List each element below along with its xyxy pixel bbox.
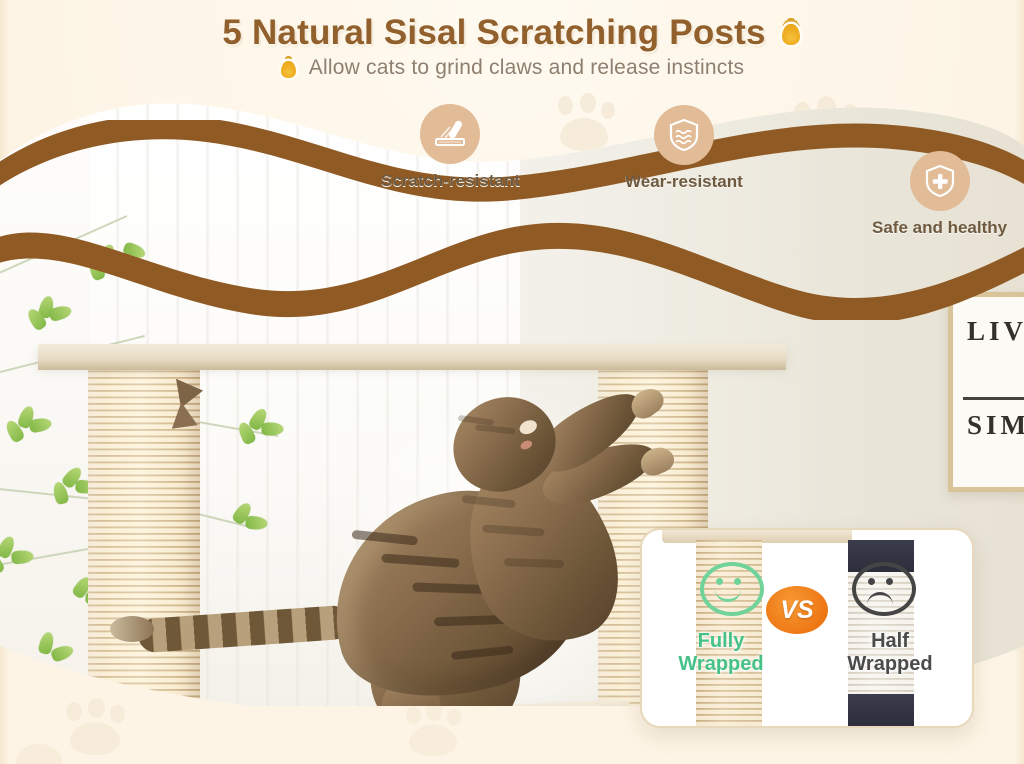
- page-title: 5 Natural Sisal Scratching Posts: [222, 13, 765, 53]
- cat-bell-ornament-icon: [280, 56, 297, 80]
- cat-ear-right: [168, 400, 197, 428]
- cat-tree-top-shelf-edge: [38, 362, 786, 370]
- shield-plus-icon: [910, 151, 970, 211]
- feature-scratch-resistant: Scratch-resistant: [381, 104, 520, 191]
- feature-label: Scratch-resistant: [381, 171, 520, 191]
- smiley-face-icon: [700, 562, 764, 616]
- poster-text-live: LIVE: [967, 311, 1024, 351]
- feature-wear-resistant: Wear-resistant: [625, 105, 743, 192]
- feature-label: Safe and healthy: [872, 218, 1007, 238]
- half-wrapped-label: Half Wrapped: [820, 630, 960, 676]
- header: 5 Natural Sisal Scratching Posts Allow c…: [0, 0, 1024, 104]
- comparison-card: Fully Wrapped VS Half Wrapped: [640, 528, 974, 728]
- cat-bell-ornament-icon: [780, 18, 802, 48]
- claw-scratch-board-icon: [420, 104, 480, 164]
- cat-illustration: [170, 376, 690, 706]
- fully-wrapped-label: Fully Wrapped: [656, 630, 786, 676]
- paw-print-decoration: [10, 736, 74, 764]
- cat-tail-tip: [110, 616, 154, 642]
- poster-divider: [963, 397, 1024, 400]
- paw-print-decoration: [400, 704, 470, 764]
- feature-label: Wear-resistant: [625, 172, 743, 192]
- marketing-banner: LIVE SIMP: [0, 0, 1024, 764]
- frowny-face-icon: [852, 562, 916, 616]
- cat-tail: [137, 605, 351, 654]
- feature-safe-and-healthy: Safe and healthy: [872, 151, 1007, 238]
- framed-poster: LIVE SIMP: [948, 292, 1024, 492]
- page-subtitle: Allow cats to grind claws and release in…: [309, 56, 744, 80]
- poster-text-simply: SIMP: [967, 405, 1024, 445]
- half-wrapped-bare-bottom: [848, 694, 914, 726]
- shield-waves-icon: [654, 105, 714, 165]
- vs-badge: VS: [766, 586, 828, 634]
